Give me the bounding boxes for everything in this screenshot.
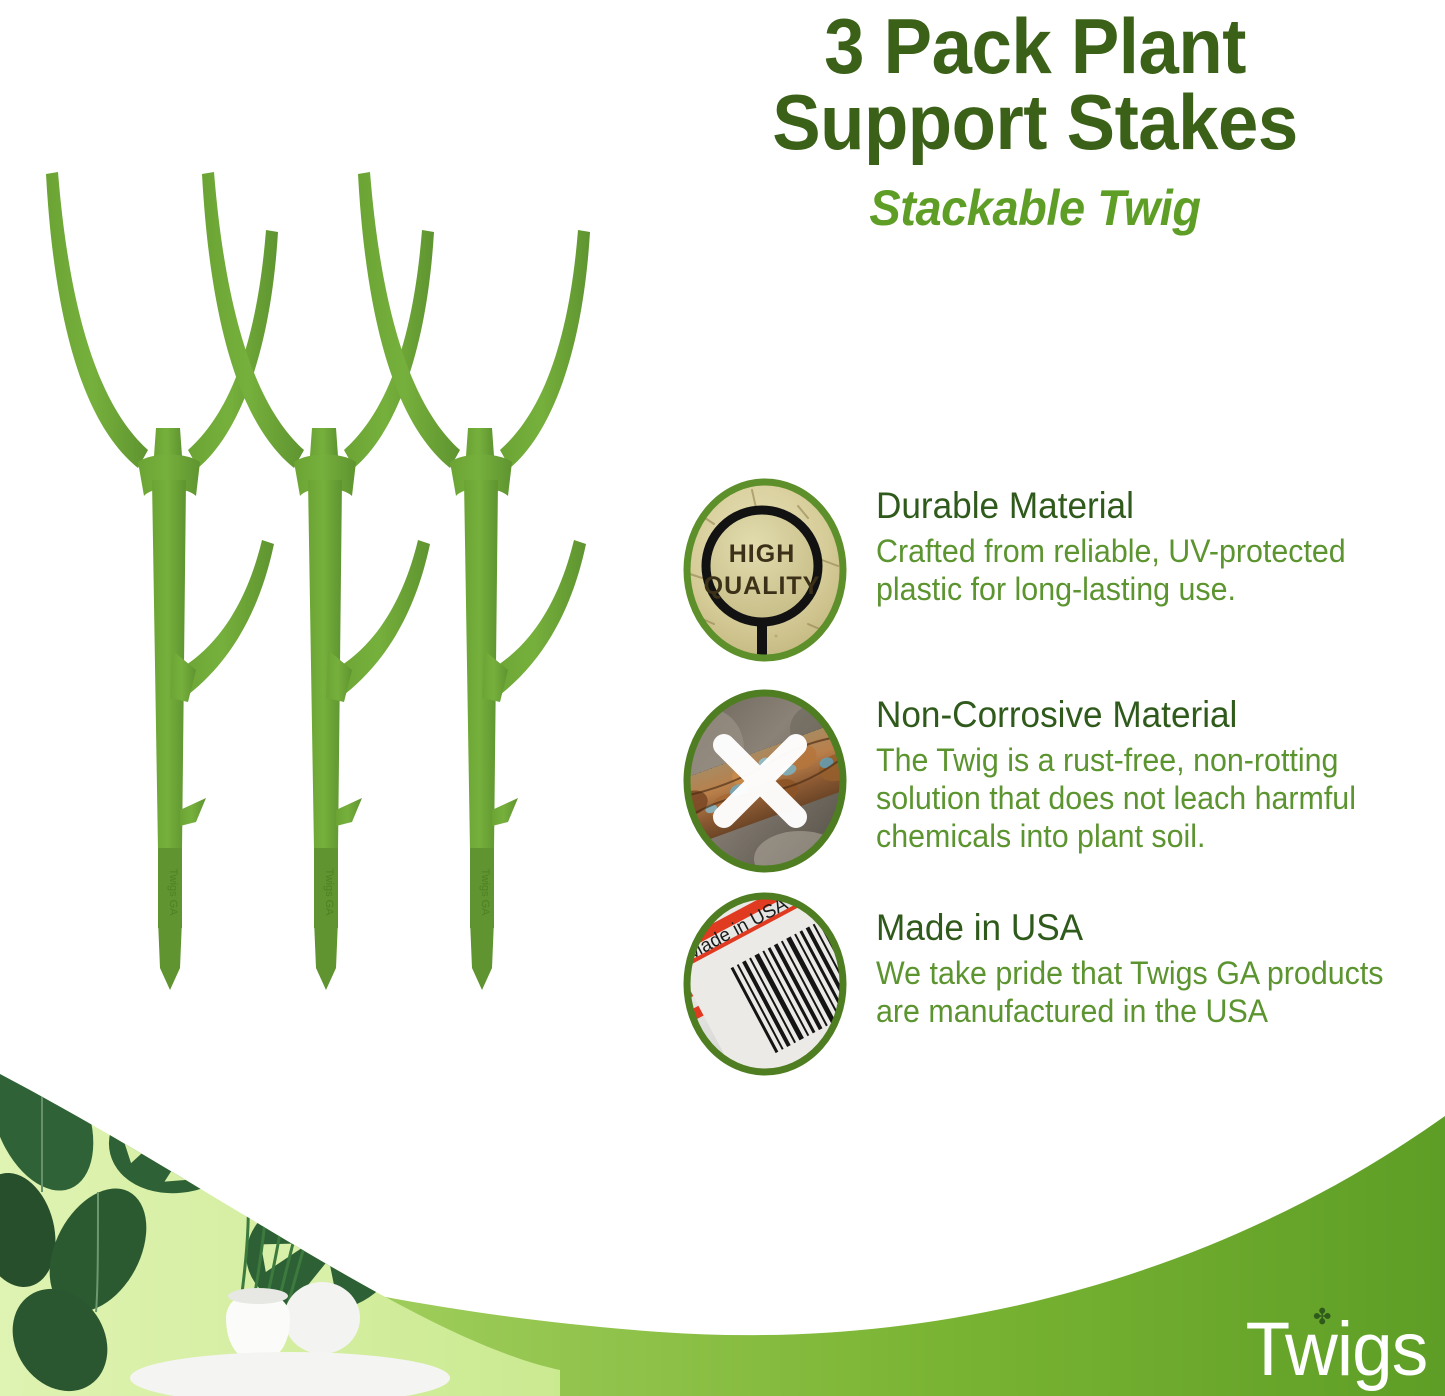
footer-band: Twigs ✤ [0,1040,1445,1396]
page-title-line-2: Support Stakes [668,84,1403,160]
stake-3 [358,172,590,990]
page-title-line-1: 3 Pack Plant [668,8,1403,84]
feature-item-non-corrosive-material: Non-Corrosive Material The Twig is a rus… [680,689,1440,874]
feature-body: The Twig is a rust-free, non-rotting sol… [876,741,1412,855]
feature-title: Non-Corrosive Material [876,695,1412,735]
stake-2 [202,172,434,990]
feature-text-block: Made in USA We take pride that Twigs GA … [876,892,1440,1030]
rusty-pipe-crossed-out-icon [680,689,850,874]
feature-item-durable-material: HIGH QUALITY Durable Material Crafted fr… [680,478,1440,663]
feature-text-block: Non-Corrosive Material The Twig is a rus… [876,689,1440,855]
feature-body: We take pride that Twigs GA products are… [876,954,1412,1030]
page-title: 3 Pack Plant Support Stakes [668,8,1403,161]
icon-text-quality: QUALITY [704,572,821,600]
feature-body: Crafted from reliable, UV-protected plas… [876,532,1412,608]
feature-text-block: Durable Material Crafted from reliable, … [876,478,1440,608]
icon-text-high: HIGH [729,540,796,568]
high-quality-magnifier-icon: HIGH QUALITY [680,478,850,663]
page-subtitle: Stackable Twig [664,179,1407,237]
feature-title: Made in USA [876,908,1412,948]
brand-logo: Twigs [1245,1312,1427,1388]
stake-1 [46,172,278,990]
header: 3 Pack Plant Support Stakes Stackable Tw… [640,8,1430,338]
product-image: Twigs GA [0,150,650,990]
feature-title: Durable Material [876,486,1412,526]
leaf-star-icon: ✤ [1313,1306,1333,1326]
feature-list: HIGH QUALITY Durable Material Crafted fr… [680,478,1440,1095]
